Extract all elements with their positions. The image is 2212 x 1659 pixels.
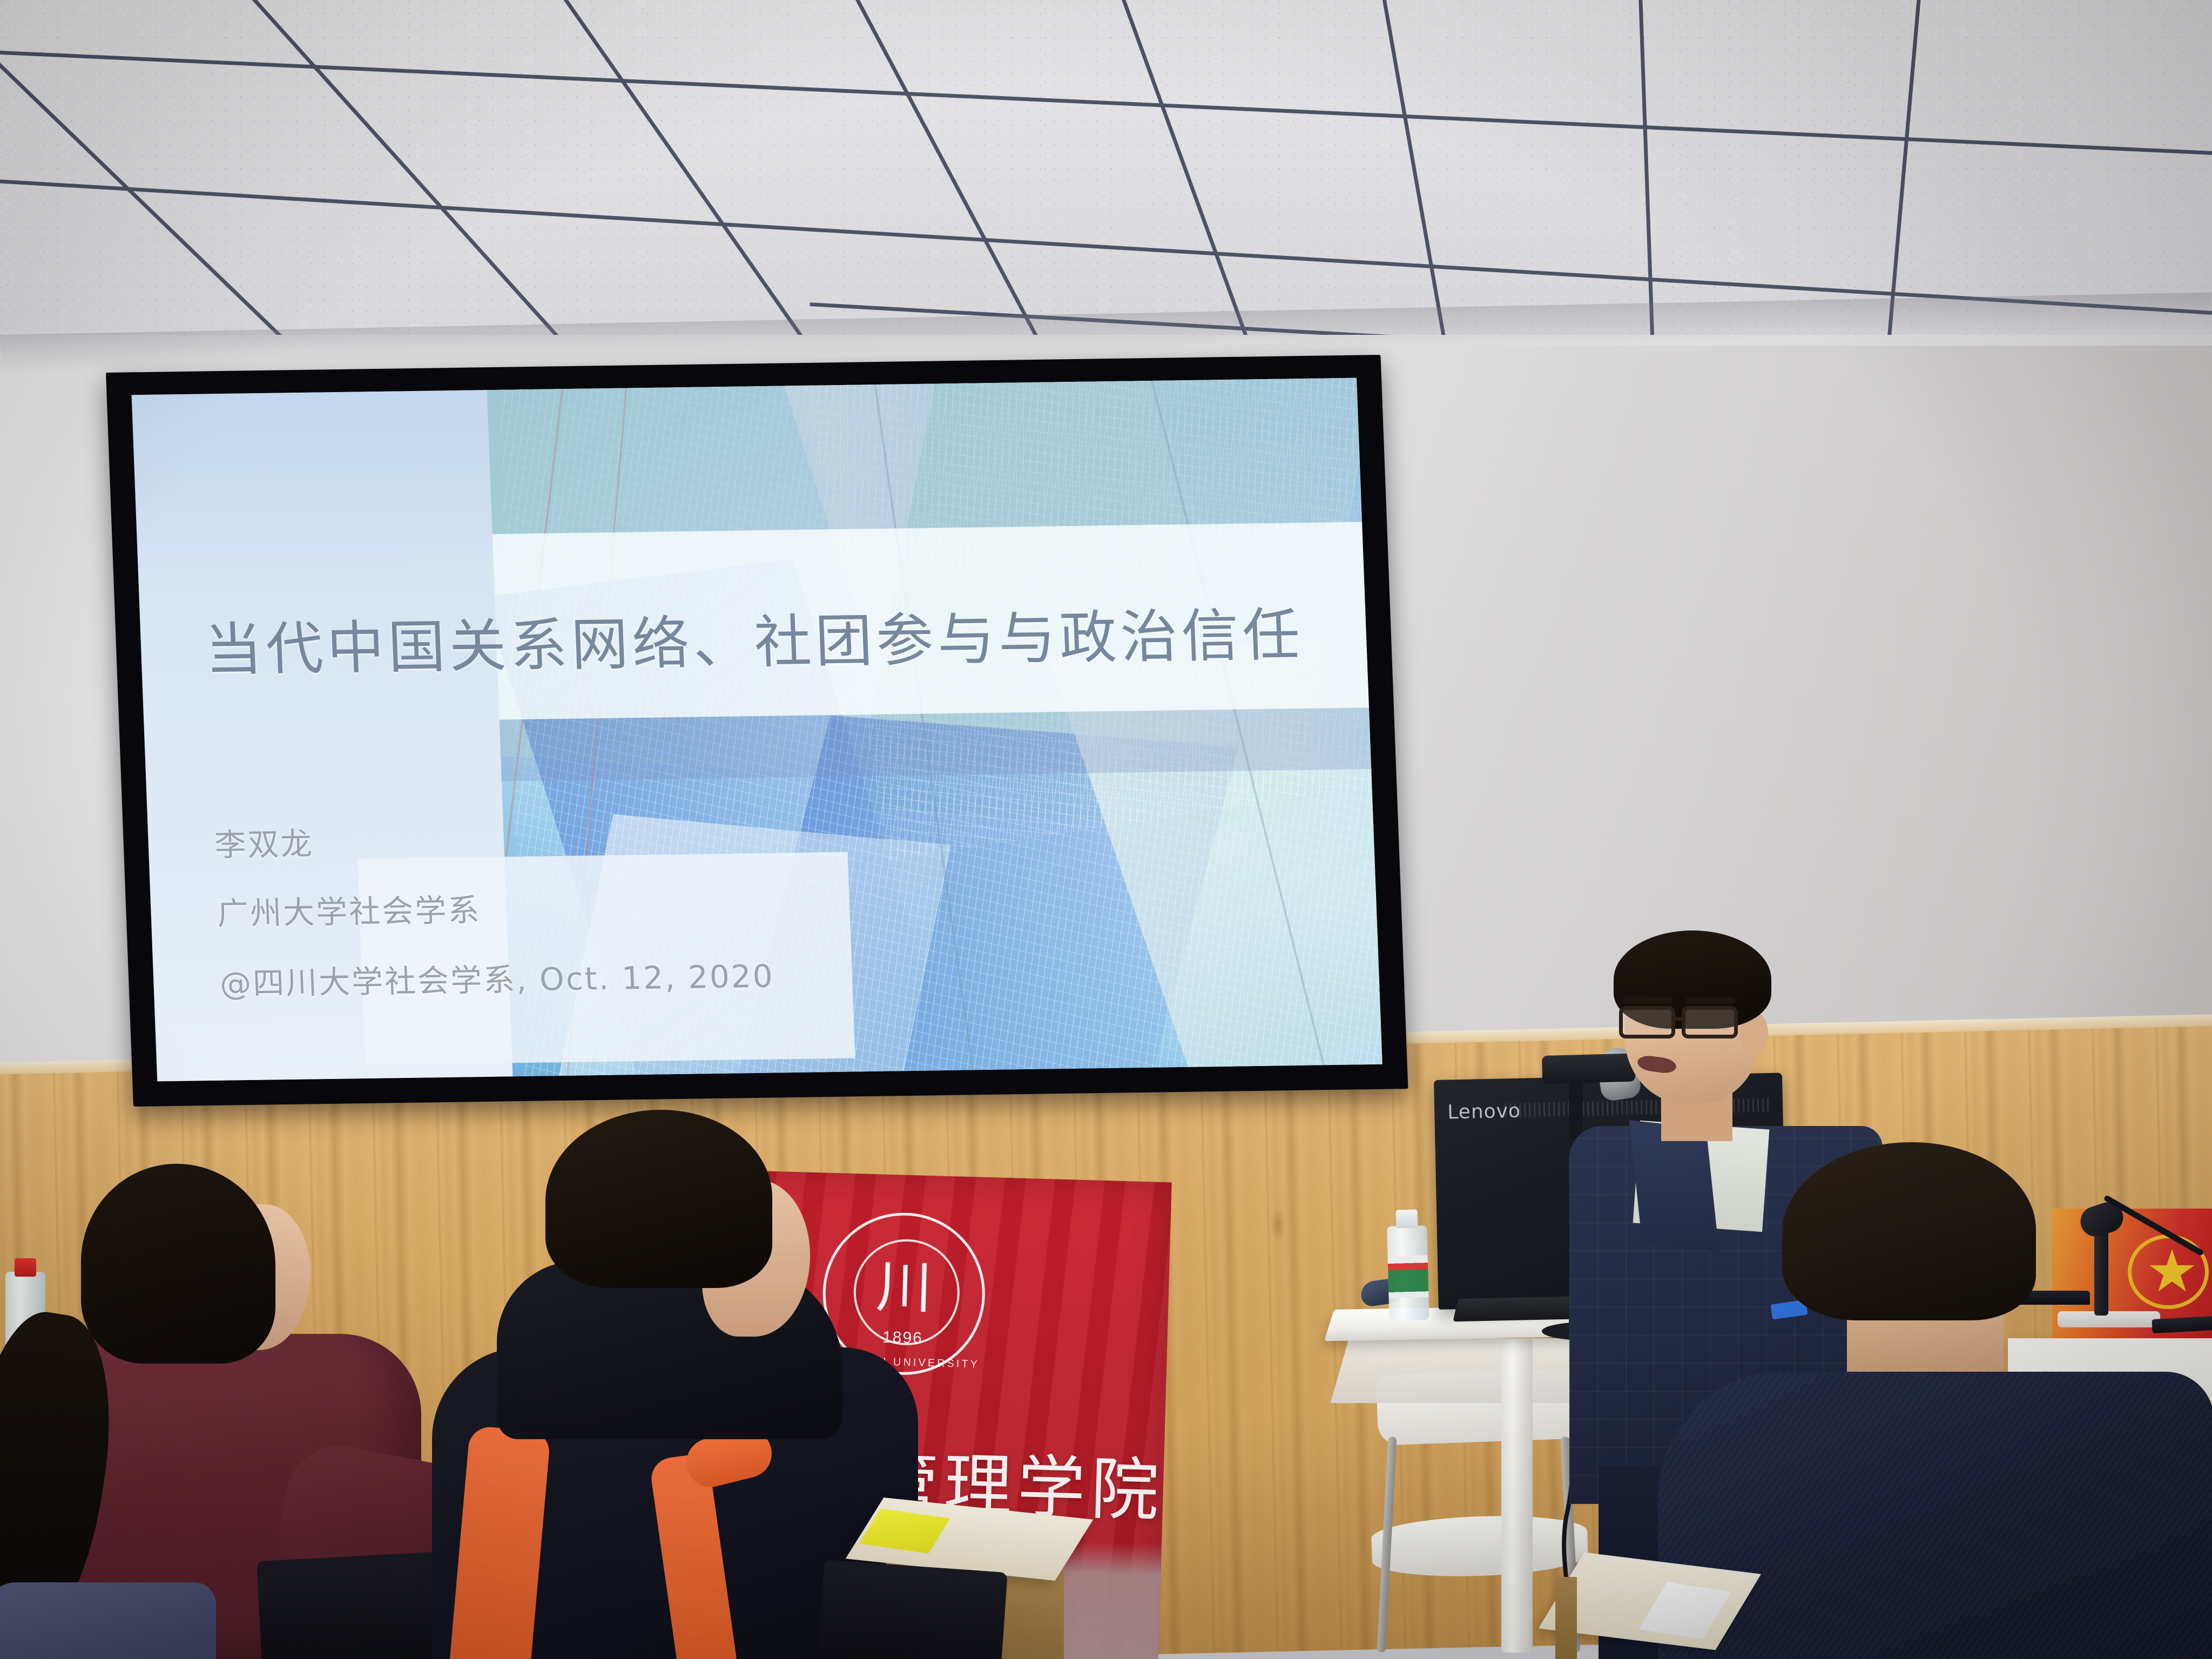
audience-hoodie-hair [545,1110,772,1288]
projection-screen[interactable]: 当代中国关系网络、社团参与与政治信任 李双龙 广州大学社会学系 @四川大学社会学… [106,355,1408,1107]
bottle-cap [1395,1210,1418,1229]
bottle-cap-red [15,1258,36,1277]
seal-year: 1896 [824,1327,981,1350]
lecture-hall-scene: 当代中国关系网络、社团参与与政治信任 李双龙 广州大学社会学系 @四川大学社会学… [0,0,2212,1659]
glasses-bridge [1675,1017,1685,1021]
microphone-stem [2094,1225,2108,1316]
eyeglasses-icon [1619,1006,1754,1038]
slide-title: 当代中国关系网络、社团参与与政治信任 [203,588,1305,686]
seal-glyph: 川 [875,1259,933,1317]
audience-sweater-body [1658,1372,2212,1659]
right-desk-leg [1555,1577,1577,1659]
center-chair[interactable] [818,1560,1008,1659]
presenter-eyebrow [1685,997,1735,1004]
presenter-eyebrow [1623,997,1673,1004]
slide-venue-date: @四川大学社会学系, Oct. 12, 2020 [219,950,775,1003]
audience-bag[interactable] [0,1582,216,1659]
audience-sweater-hair [1782,1142,2036,1320]
audience-woman-hair [81,1164,275,1364]
slide-author: 李双龙 [214,818,314,865]
glasses-lens-left [1619,1006,1675,1038]
slide-surface: 当代中国关系网络、社团参与与政治信任 李双龙 广州大学社会学系 @四川大学社会学… [132,378,1382,1082]
microphone-base [2058,1311,2160,1327]
hoodie-orange-stripe [448,1425,551,1659]
slide-affiliation: 广州大学社会学系 [216,885,481,934]
glasses-lens-right [1682,1006,1738,1038]
